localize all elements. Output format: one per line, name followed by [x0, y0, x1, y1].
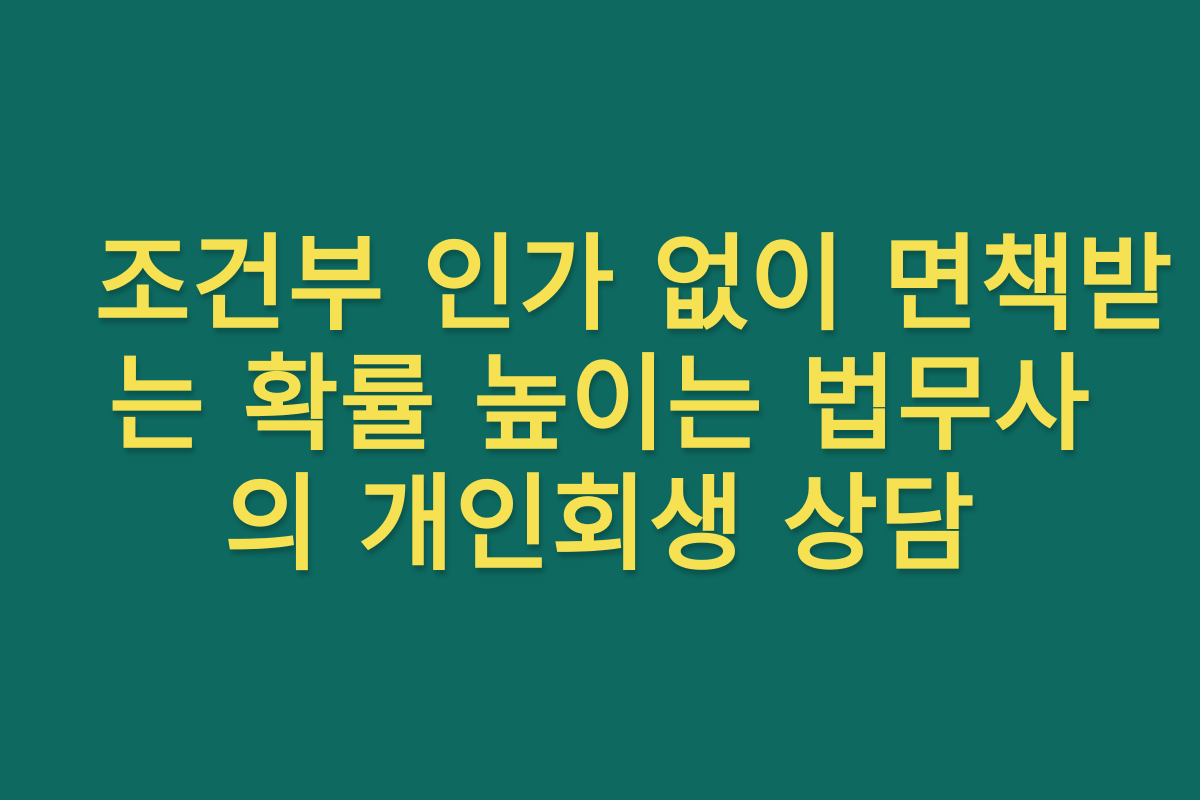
headline-line-1: 조건부 인가 없이 면책받 [95, 224, 1105, 344]
poster-canvas: 조건부 인가 없이 면책받 는 확률 높이는 법무사 의 개인회생 상담 [0, 0, 1200, 800]
headline-text-block: 조건부 인가 없이 면책받 는 확률 높이는 법무사 의 개인회생 상담 [95, 224, 1105, 584]
headline-line-3: 의 개인회생 상담 [95, 464, 1105, 584]
headline-line-2: 는 확률 높이는 법무사 [95, 344, 1105, 464]
